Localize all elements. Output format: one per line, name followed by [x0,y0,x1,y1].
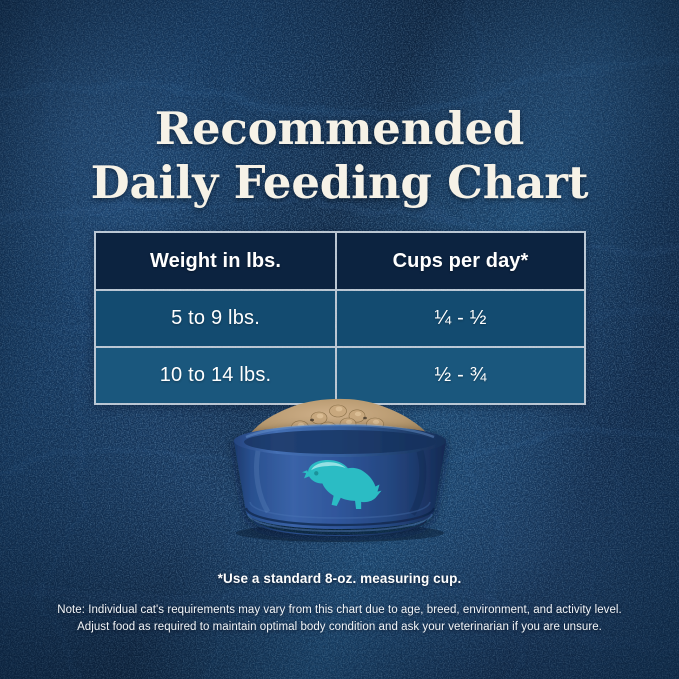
table-row: 10 to 14 lbs. ½ - ¾ [96,348,584,403]
title-line-2: Daily Feeding Chart [0,156,679,210]
table-header-row: Weight in lbs. Cups per day* [96,233,584,289]
cell-weight-range: 10 to 14 lbs. [96,348,335,403]
column-header-cups: Cups per day* [337,233,584,289]
title-line-1: Recommended [0,102,679,156]
table-row: 5 to 9 lbs. ¼ - ½ [96,291,584,346]
disclaimer-line-2: Adjust food as required to maintain opti… [40,619,639,636]
cell-cups-per-day: ½ - ¾ [337,348,584,403]
dog-bowl-image [224,396,456,544]
page-title: Recommended Daily Feeding Chart [0,102,679,210]
cell-weight-range: 5 to 9 lbs. [96,291,335,346]
measuring-cup-footnote: *Use a standard 8-oz. measuring cup. [0,571,679,586]
feeding-table: Weight in lbs. Cups per day* 5 to 9 lbs.… [94,231,586,405]
cell-cups-per-day: ¼ - ½ [337,291,584,346]
disclaimer-note: Note: Individual cat's requirements may … [40,602,639,636]
feeding-chart-poster: Recommended Daily Feeding Chart Weight i… [0,0,679,679]
column-header-weight: Weight in lbs. [96,233,335,289]
disclaimer-line-1: Note: Individual cat's requirements may … [40,602,639,619]
